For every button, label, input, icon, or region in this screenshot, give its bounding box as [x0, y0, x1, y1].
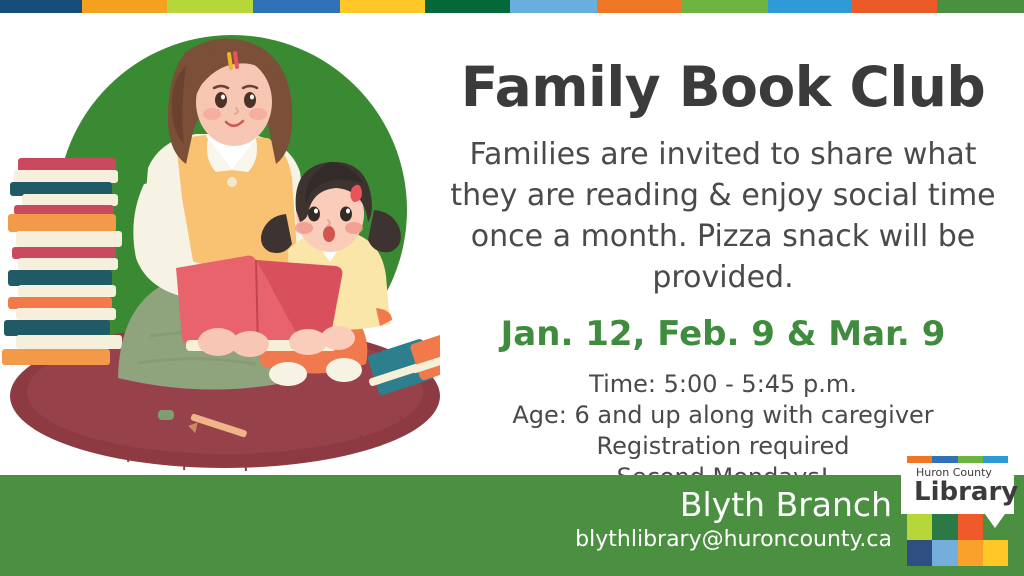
logo-strip-segment: [958, 456, 983, 463]
book-stack-item: [8, 214, 122, 247]
detail-line-time: Time: 5:00 - 5:45 p.m.: [430, 369, 1016, 400]
color-bar-segment: [937, 0, 1024, 13]
color-bar-segment: [597, 0, 682, 13]
logo-strip-segment: [983, 456, 1008, 463]
poster-content: Family Book Club Families are invited to…: [430, 40, 1016, 493]
family-reading-illustration: [0, 18, 440, 478]
branch-name: Blyth Branch: [575, 485, 892, 525]
book-stack-item: [12, 247, 118, 270]
color-bar-segment: [510, 0, 597, 13]
logo-grid-cell: [907, 540, 932, 566]
book-stack-item: [4, 320, 122, 349]
color-bar-segment: [425, 0, 510, 13]
logo-grid-cell: [932, 514, 957, 540]
footer-contact: Blyth Branch blythlibrary@huroncounty.ca: [575, 485, 892, 555]
page-title: Family Book Club: [430, 56, 1016, 118]
decorative-color-bar: [0, 0, 1024, 13]
book-stack-item: [8, 297, 116, 320]
color-bar-segment: [682, 0, 768, 13]
logo-strip-segment: [932, 456, 957, 463]
color-bar-segment: [0, 0, 82, 13]
logo-strip-segment: [907, 456, 932, 463]
book-stack-item: [2, 349, 110, 365]
color-bar-segment: [167, 0, 253, 13]
child-eye: [340, 207, 352, 222]
description-text: Families are invited to share what they …: [430, 134, 1016, 298]
woman-eye: [244, 92, 256, 108]
color-bar-segment: [768, 0, 852, 13]
poster-canvas: Family Book Club Families are invited to…: [0, 0, 1024, 576]
logo-speech-tail-icon: [985, 514, 1005, 528]
child-mouth: [323, 226, 335, 242]
detail-line-age: Age: 6 and up along with caregiver: [430, 400, 1016, 431]
child-eye: [308, 207, 320, 222]
logo-grid-cell: [958, 540, 983, 566]
logo-grid-cell: [983, 540, 1008, 566]
eraser: [158, 410, 174, 420]
logo-org-line2: Library: [907, 478, 1008, 507]
child-sock: [269, 362, 307, 386]
logo-grid-cell: [983, 514, 1008, 540]
book-stack-item: [14, 158, 118, 183]
footer-bar: Blyth Branch blythlibrary@huroncounty.ca: [0, 475, 1024, 576]
woman-eye: [215, 92, 227, 108]
child-sock: [326, 358, 362, 382]
logo-grid-cell: [907, 514, 932, 540]
book-stack-item: [14, 205, 114, 215]
color-bar-segment: [253, 0, 340, 13]
color-bar-segment: [82, 0, 167, 13]
color-bar-segment: [340, 0, 425, 13]
logo-color-grid: [907, 514, 1008, 566]
logo-grid-cell: [932, 540, 957, 566]
book-stack: [2, 158, 122, 365]
book-stack-item: [8, 270, 116, 297]
logo-grid-cell: [958, 514, 983, 540]
huron-county-library-logo: Huron County Library: [901, 452, 1014, 570]
color-bar-segment: [852, 0, 937, 13]
branch-email[interactable]: blythlibrary@huroncounty.ca: [575, 525, 892, 555]
book-stack-item: [10, 182, 118, 206]
logo-color-strip: [907, 456, 1008, 463]
dates-text: Jan. 12, Feb. 9 & Mar. 9: [430, 314, 1016, 354]
